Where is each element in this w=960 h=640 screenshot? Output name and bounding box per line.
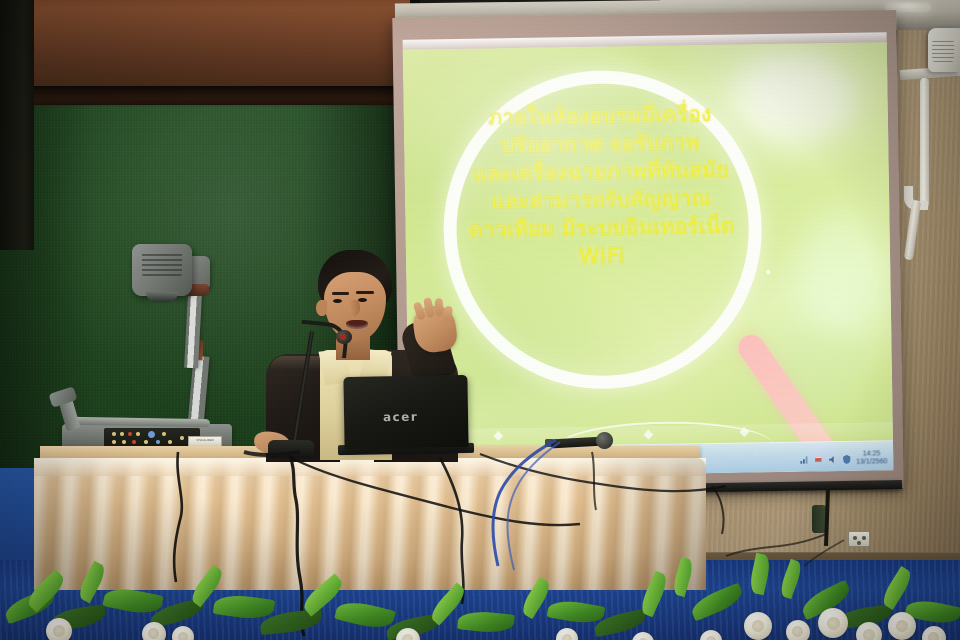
rose: [856, 622, 882, 640]
rose: [818, 608, 848, 638]
presenter-eyebrow-right: [356, 291, 374, 294]
taskbar-clock[interactable]: 14:25 13/1/2560: [856, 450, 887, 466]
leaf: [778, 559, 804, 599]
slide-line-6: WiFi: [452, 240, 752, 273]
presenter-eye-right: [358, 298, 367, 302]
left-wall-dark-edge: [0, 0, 34, 250]
slide-line-3: และเครื่องฉายภาพที่ทันสมัย: [451, 156, 751, 189]
presenter-eyebrow-left: [332, 292, 349, 295]
leaf: [638, 571, 671, 618]
flag-icon[interactable]: [814, 455, 823, 464]
leaf: [688, 583, 746, 622]
network-icon[interactable]: [800, 455, 809, 464]
wall-power-outlet[interactable]: [848, 531, 870, 547]
mic-indicator-light: [340, 334, 346, 340]
doc-camera-lens: [146, 292, 178, 302]
slide-line-4: และสามารถรับสัญญาณ: [451, 184, 751, 217]
slide-line-1: ภายในห้องอบรมมีเครื่อง: [450, 100, 750, 133]
leaf: [547, 597, 606, 626]
slide-text-block: ภายในห้องอบรมมีเครื่อง ปรับอากาศ จอรับภา…: [450, 100, 753, 272]
presenter-eye-left: [333, 299, 342, 303]
rose: [700, 630, 722, 640]
rose: [632, 632, 654, 640]
presenter-mouth: [346, 320, 368, 329]
rose: [172, 626, 194, 640]
laptop-brand-logo: acer: [383, 410, 419, 425]
ac-vents: [932, 40, 954, 62]
leaf: [671, 557, 695, 597]
rose: [46, 618, 72, 640]
system-tray[interactable]: 14:25 13/1/2560: [800, 450, 887, 467]
wooden-arch-valance: [0, 0, 410, 120]
presenter-nose: [349, 300, 360, 316]
leaf: [748, 553, 772, 595]
rose: [142, 622, 166, 640]
leaf: [213, 592, 275, 622]
rose: [888, 612, 916, 640]
dust-speck-1: [766, 270, 770, 274]
handheld-mic-grille: [596, 432, 613, 449]
desktop-icon-1[interactable]: [493, 431, 503, 441]
speaker-icon[interactable]: [828, 455, 837, 464]
leaf: [457, 609, 515, 635]
audio-mixer[interactable]: [104, 428, 200, 448]
arch-shadow: [0, 86, 410, 108]
presenter-ear: [316, 300, 327, 316]
leaf: [334, 597, 396, 632]
slide-line-5: ดาวเทียม มีระบบอินเทอร์เน็ต: [451, 212, 751, 245]
mic-base[interactable]: [268, 440, 314, 458]
doc-camera-vents: [142, 252, 182, 276]
floral-arrangement: [0, 556, 960, 640]
rose: [786, 620, 810, 640]
shield-icon[interactable]: [842, 454, 851, 463]
rose: [556, 628, 578, 640]
rose: [922, 626, 946, 640]
clock-date: 13/1/2560: [856, 458, 887, 466]
rose: [744, 612, 772, 640]
screen-surface: ภายในห้องอบรมมีเครื่อง ปรับอากาศ จอรับภา…: [403, 42, 894, 478]
photo-scene: ภายในห้องอบรมมีเครื่อง ปรับอากาศ จอรับภา…: [0, 0, 960, 640]
